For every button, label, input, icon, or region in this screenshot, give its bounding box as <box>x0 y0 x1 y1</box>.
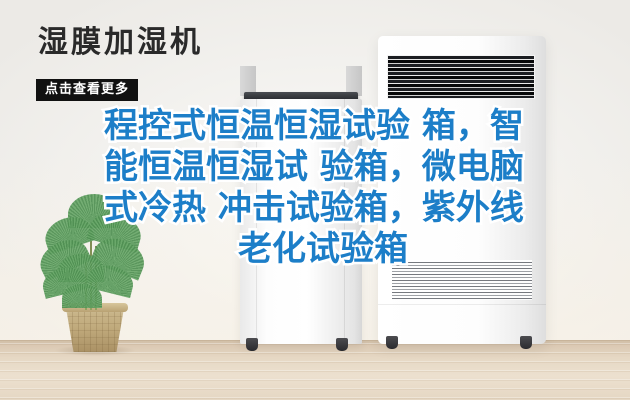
overlay-line-5: 老化试验箱 <box>104 229 542 270</box>
woven-basket-pot <box>66 308 124 352</box>
overlay-headline: 程控式恒温恒湿试验 箱，智能恒温恒湿试 验箱，微电脑式冷热 冲击试验箱，紫外线 … <box>104 106 542 270</box>
cabinet-seam <box>378 304 546 305</box>
caster-wheel <box>246 338 258 351</box>
cta-badge[interactable]: 点击查看更多 <box>36 79 138 101</box>
caster-wheel <box>386 336 398 349</box>
palm-frond <box>62 284 102 308</box>
caster-wheel <box>336 338 348 351</box>
overlay-line-4: 冲击试验箱，紫外线 <box>218 188 524 228</box>
page-title: 湿膜加湿机 <box>38 28 203 58</box>
dark-louvered-vent-grille-icon <box>387 55 535 99</box>
promo-banner: 湿膜加湿机 点击查看更多 程控式恒温恒湿试验 箱，智能恒温恒湿试 验箱，微电脑式… <box>0 0 630 400</box>
caster-wheel <box>520 336 532 349</box>
overlay-line-1: 程控式恒温恒湿试验 <box>104 106 410 146</box>
